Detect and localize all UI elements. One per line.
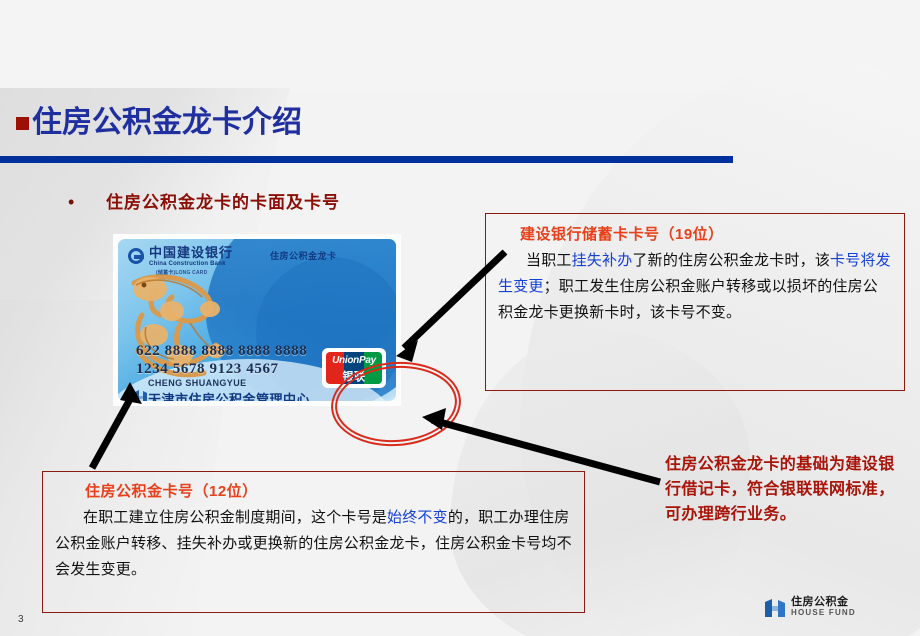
footer-logo: 住房公积金 HOUSE FUND: [764, 597, 856, 618]
house-fund-mark-icon: [134, 389, 148, 401]
card-bank-name-cn: 中国建设银行: [149, 246, 233, 259]
ccb-logo-icon: [128, 248, 144, 264]
card-number-12: 1234 5678 9123 4567: [136, 361, 279, 378]
body-part-highlight: 挂失补办: [572, 252, 633, 269]
page-number: 3: [18, 614, 24, 625]
card-long-card-label: (储蓄卡)LONG CARD: [156, 271, 207, 276]
callout-box-debit-card-number: 建设银行储蓄卡卡号（19位） 当职工挂失补办了新的住房公积金龙卡时，该卡号将发生…: [485, 213, 905, 391]
callout-heading: 建设银行储蓄卡卡号（19位）: [520, 223, 892, 244]
footer-logo-en: HOUSE FUND: [791, 608, 856, 618]
subheading-row: • 住房公积金龙卡的卡面及卡号: [68, 188, 340, 213]
square-bullet-icon: [16, 117, 29, 130]
body-part: ；职工发生住房公积金账户转移或以损坏的住房公积金龙卡更换新卡时，该卡号不变。: [498, 278, 878, 321]
callout-body: 当职工挂失补办了新的住房公积金龙卡时，该卡号将发生变更；职工发生住房公积金账户转…: [498, 248, 892, 326]
slide-title-row: 住房公积金龙卡介绍: [16, 108, 302, 138]
body-part: 当职工: [526, 252, 572, 269]
callout-heading: 住房公积金卡号（12位）: [85, 480, 572, 501]
body-part: 了新的住房公积金龙卡时，该: [632, 252, 830, 269]
page-title: 住房公积金龙卡介绍: [32, 108, 302, 138]
card-number-19: 622 8888 8888 8888 8888: [136, 343, 307, 360]
card-holder-name: CHENG SHUANGYUE: [148, 378, 247, 388]
slide-canvas: 住房公积金龙卡介绍 • 住房公积金龙卡的卡面及卡号: [0, 0, 920, 636]
title-underline-bar: [0, 156, 733, 163]
callout-body: 在职工建立住房公积金制度期间，这个卡号是始终不变的，职工办理住房公积金账户转移、…: [55, 505, 572, 583]
card-issuer-center-cn: 天津市住房公积金管理中心: [148, 389, 310, 401]
callout-box-fund-card-number: 住房公积金卡号（12位） 在职工建立住房公积金制度期间，这个卡号是始终不变的，职…: [42, 471, 585, 613]
card-bank-name-en: China Construction Bank: [149, 261, 226, 267]
house-fund-logo-icon: [764, 598, 786, 618]
note-unionpay-standard: 住房公积金龙卡的基础为建设银行借记卡，符合银联联网标准，可办理跨行业务。: [665, 452, 905, 527]
body-part-highlight: 始终不变: [387, 509, 448, 526]
subheading-text: 住房公积金龙卡的卡面及卡号: [106, 188, 340, 213]
bullet-dot-icon: •: [68, 192, 106, 213]
footer-logo-cn: 住房公积金: [791, 597, 856, 608]
card-product-name: 住房公积金龙卡: [270, 249, 337, 262]
body-part: 在职工建立住房公积金制度期间，这个卡号是: [83, 509, 387, 526]
